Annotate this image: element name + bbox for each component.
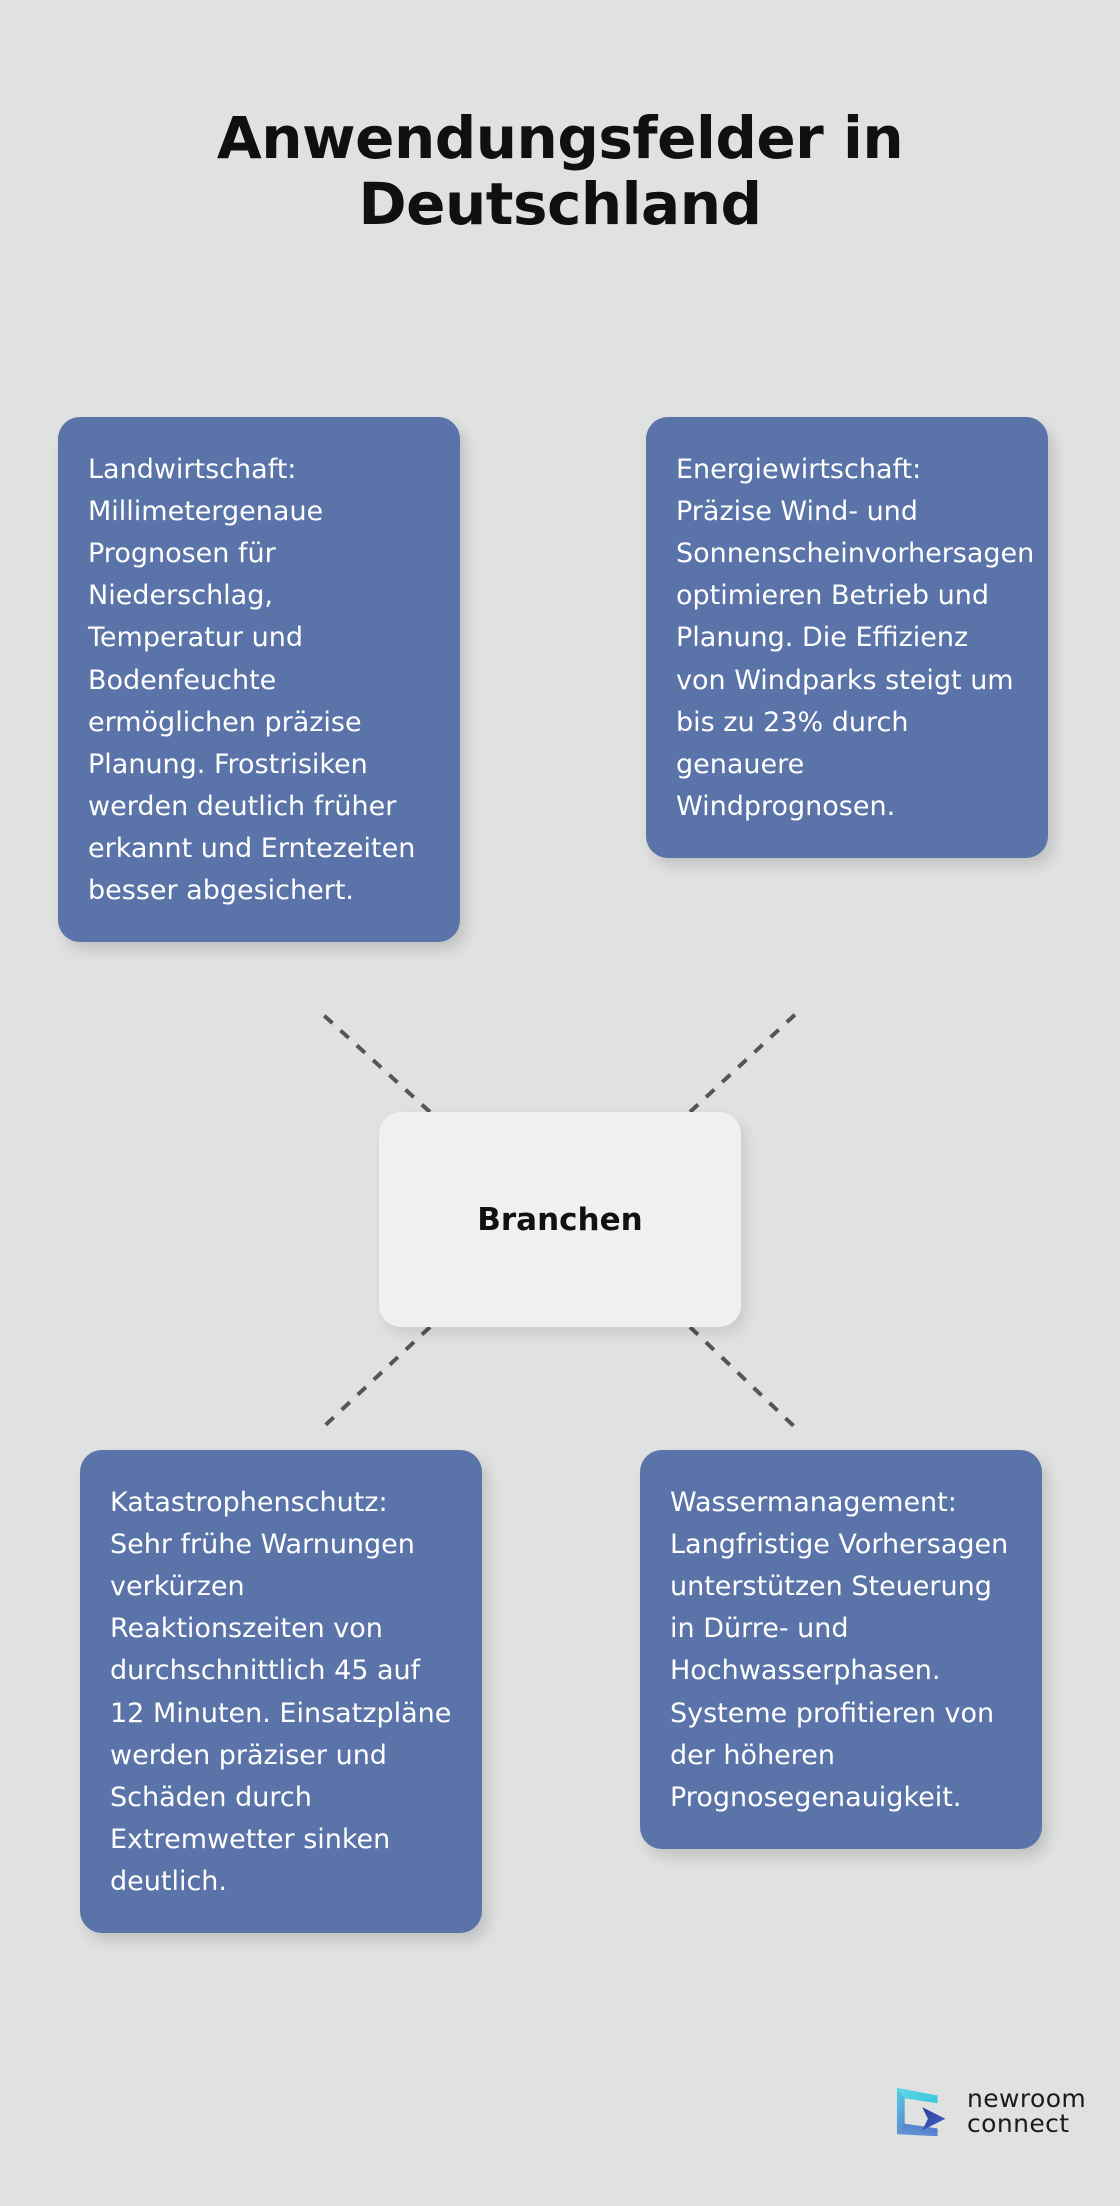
center-node-branchen[interactable]: Branchen — [379, 1112, 741, 1327]
page-title-line-1: Anwendungsfelder in — [217, 104, 903, 172]
brand-logo-line-2: connect — [967, 2111, 1086, 2137]
infographic-page: Anwendungsfelder in Deutschland Landwirt… — [0, 0, 1120, 2206]
card-wassermanagement[interactable]: Wassermanagement: Langfristige Vorhersag… — [640, 1450, 1042, 1849]
page-title-line-2: Deutschland — [358, 170, 761, 238]
brand-logo: newroom connect — [895, 2072, 1075, 2150]
card-landwirtschaft[interactable]: Landwirtschaft: Millimetergenaue Prognos… — [58, 417, 460, 942]
brand-logo-line-1: newroom — [967, 2086, 1086, 2112]
connector-center-to-bottom-right — [690, 1327, 800, 1432]
connector-center-to-top-left — [318, 1010, 430, 1112]
page-title: Anwendungsfelder in Deutschland — [0, 105, 1120, 237]
card-energiewirtschaft[interactable]: Energiewirtschaft: Präzise Wind- und Son… — [646, 417, 1048, 858]
connector-center-to-bottom-left — [318, 1327, 430, 1432]
card-wassermanagement-text: Wassermanagement: Langfristige Vorhersag… — [670, 1487, 1008, 1813]
center-node-label: Branchen — [477, 1202, 642, 1238]
card-katastrophenschutz[interactable]: Katastrophenschutz: Sehr frühe Warnungen… — [80, 1450, 482, 1933]
card-energiewirtschaft-text: Energiewirtschaft: Präzise Wind- und Son… — [676, 454, 1034, 822]
brand-logo-text: newroom connect — [967, 2086, 1086, 2137]
newroom-connect-logo-icon — [895, 2080, 957, 2142]
card-katastrophenschutz-text: Katastrophenschutz: Sehr frühe Warnungen… — [110, 1487, 451, 1897]
connector-center-to-top-right — [690, 1010, 800, 1112]
card-landwirtschaft-text: Landwirtschaft: Millimetergenaue Prognos… — [88, 454, 415, 906]
